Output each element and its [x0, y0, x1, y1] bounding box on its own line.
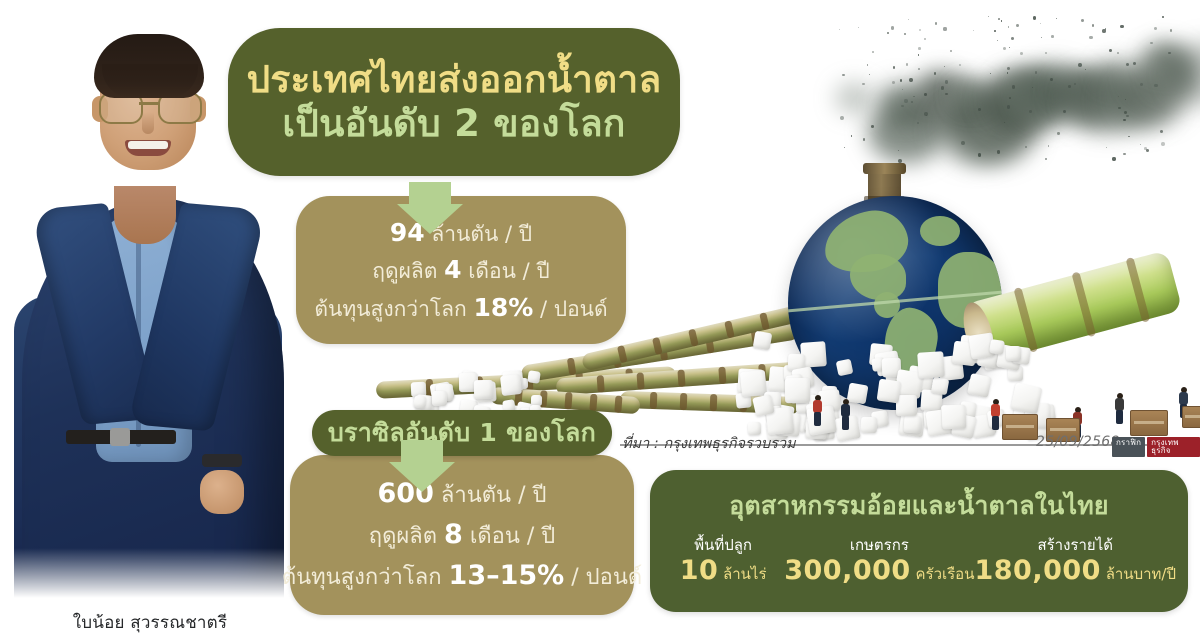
industry-stat-value: 10 ล้านไร่: [662, 556, 784, 586]
brazil-stats-box: 600 ล้านตัน / ปี ฤดูผลิต 8 เดือน / ปี ต้…: [290, 455, 634, 615]
thailand-season-unit: เดือน / ปี: [468, 259, 550, 283]
industry-stat-unit: ครัวเรือน: [915, 565, 974, 583]
brazil-season-line: ฤดูผลิต 8 เดือน / ปี: [369, 517, 556, 553]
brazil-production-unit: ล้านตัน / ปี: [441, 483, 547, 508]
industry-stat-value: 300,000 ครัวเรือน: [784, 556, 974, 586]
thailand-season-line: ฤดูผลิต 4 เดือน / ปี: [372, 253, 550, 287]
headline-banner: ประเทศไทยส่งออกน้ำตาล เป็นอันดับ 2 ของโล…: [228, 28, 680, 176]
source-credit: ที่มา : กรุงเทพธุรกิจรวบรวม: [622, 432, 796, 455]
industry-stat-item: พื้นที่ปลูก 10 ล้านไร่: [662, 536, 784, 586]
industry-stats-row: พื้นที่ปลูก 10 ล้านไร่ เกษตรกร 300,000 ค…: [662, 536, 1176, 602]
industry-stat-item: เกษตรกร 300,000 ครัวเรือน: [784, 536, 974, 586]
brazil-cost-line: ต้นทุนสูงกว่าโลก 13–15% / ปอนด์: [282, 558, 642, 594]
brazil-season-prefix: ฤดูผลิต: [369, 524, 437, 549]
publisher-badges: กราฟิก กรุงเทพธุรกิจ: [1112, 437, 1200, 457]
brazil-cost-value: 13–15%: [449, 560, 565, 591]
graphic-badge: กราฟิก: [1112, 437, 1145, 457]
portrait-caption: ใบน้อย สุวรรณชาตรี: [0, 609, 300, 636]
headline-line-1: ประเทศไทยส่งออกน้ำตาล: [247, 58, 662, 102]
brazil-cost-unit: / ปอนด์: [571, 565, 642, 590]
thailand-cost-line: ต้นทุนสูงกว่าโลก 18% / ปอนด์: [314, 291, 607, 325]
factory-smoke-graphic: [825, 12, 1200, 187]
thailand-season-value: 4: [444, 255, 461, 284]
industry-panel: อุตสาหกรรมอ้อยและน้ำตาลในไทย พื้นที่ปลูก…: [650, 470, 1188, 612]
industry-stat-label: เกษตรกร: [784, 536, 974, 554]
industry-stat-value: 180,000 ล้านบาท/ปี: [974, 556, 1176, 586]
thailand-cost-unit: / ปอนด์: [540, 297, 608, 321]
industry-stat-label: พื้นที่ปลูก: [662, 536, 784, 554]
publish-date: 25/09/2568: [1036, 434, 1120, 450]
industry-panel-title: อุตสาหกรรมอ้อยและน้ำตาลในไทย: [650, 486, 1188, 526]
brazil-season-unit: เดือน / ปี: [470, 524, 555, 549]
brand-badge: กรุงเทพธุรกิจ: [1147, 437, 1200, 457]
brazil-heading-label: บราซิลอันดับ 1 ของโลก: [328, 413, 596, 453]
thailand-cost-prefix: ต้นทุนสูงกว่าโลก: [314, 297, 466, 321]
brazil-cost-prefix: ต้นทุนสูงกว่าโลก: [282, 565, 442, 590]
industry-stat-label: สร้างรายได้: [974, 536, 1176, 554]
brazil-season-value: 8: [444, 519, 463, 550]
industry-stat-unit: ล้านบาท/ปี: [1106, 565, 1176, 583]
thailand-season-prefix: ฤดูผลิต: [372, 259, 437, 283]
infographic-canvas: ใบน้อย สุวรรณชาตรี ประเทศไทยส่งออกน้ำตาล…: [0, 0, 1200, 642]
brazil-heading-pill: บราซิลอันดับ 1 ของโลก: [312, 410, 612, 456]
headline-line-2: เป็นอันดับ 2 ของโลก: [282, 102, 625, 146]
industry-stat-number: 10: [680, 555, 719, 586]
industry-stat-unit: ล้านไร่: [723, 565, 766, 583]
industry-stat-number: 300,000: [784, 555, 910, 586]
thailand-cost-value: 18%: [473, 293, 533, 322]
industry-stat-number: 180,000: [974, 555, 1100, 586]
industry-stat-item: สร้างรายได้ 180,000 ล้านบาท/ปี: [974, 536, 1176, 586]
